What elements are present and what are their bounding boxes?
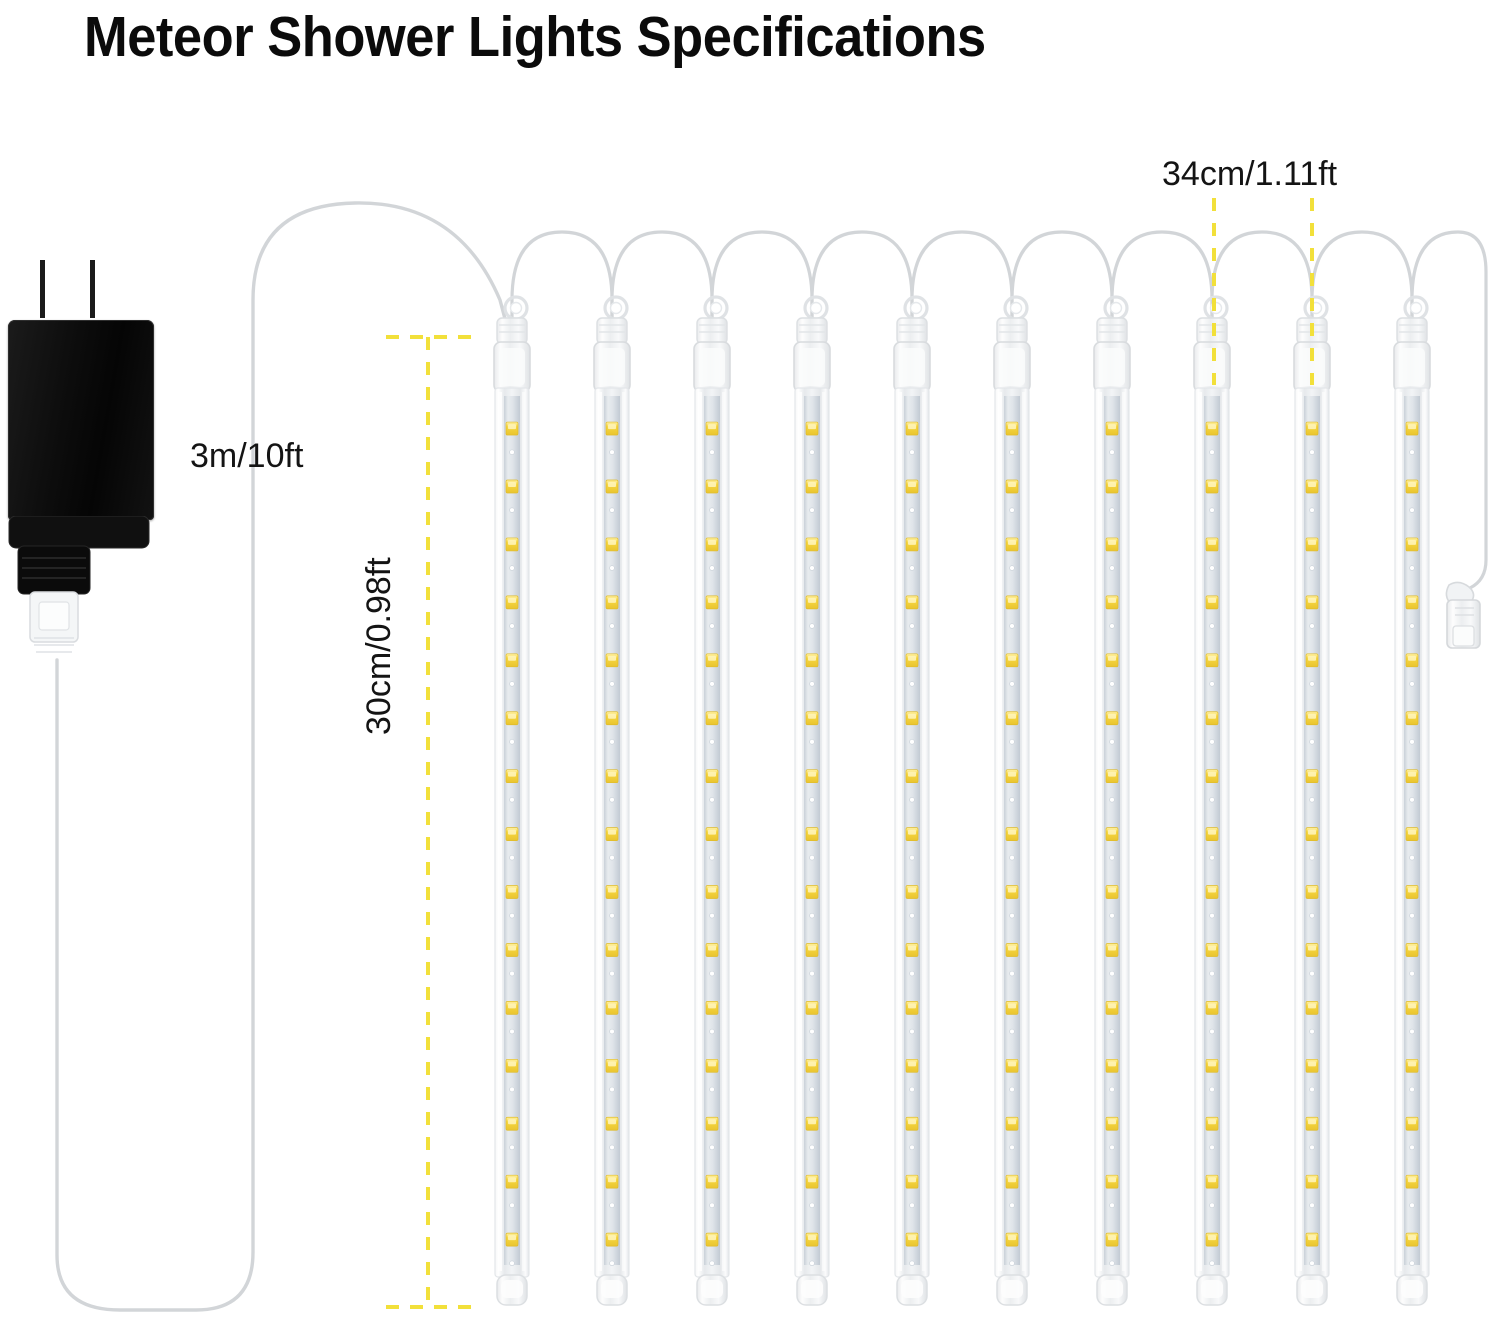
product-illustration <box>0 0 1500 1319</box>
led-tube <box>594 297 630 1305</box>
led-tube-group <box>494 297 1430 1305</box>
led-tube <box>994 297 1030 1305</box>
dimension-label-tube-spacing: 34cm/1.11ft <box>1162 155 1337 194</box>
specification-diagram: Meteor Shower Lights Specifications <box>0 0 1500 1319</box>
dimension-label-cord-length: 3m/10ft <box>190 437 303 476</box>
adapter-body: RICO CLASS 2 POWER SUPPLY MODEL NO.:RXPO… <box>8 320 154 520</box>
led-tube <box>1294 297 1330 1305</box>
led-tube <box>1094 297 1130 1305</box>
power-adapter: RICO CLASS 2 POWER SUPPLY MODEL NO.:RXPO… <box>8 320 154 520</box>
plug-prongs <box>8 260 154 324</box>
end-connector <box>1446 582 1480 648</box>
led-tube <box>1194 297 1230 1305</box>
dimension-label-tube-length: 30cm/0.98ft <box>360 557 399 735</box>
adapter-output-connector <box>6 516 166 686</box>
led-tube <box>1394 297 1430 1305</box>
led-tube <box>894 297 930 1305</box>
led-tube <box>794 297 830 1305</box>
led-tube <box>494 297 530 1305</box>
led-tube <box>694 297 730 1305</box>
